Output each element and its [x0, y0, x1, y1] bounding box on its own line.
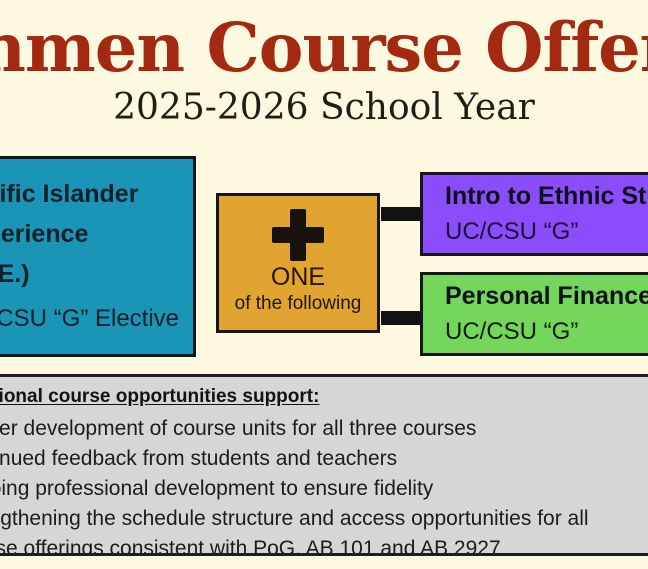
support-panel-line: Strengthening the schedule structure and…	[0, 504, 648, 534]
connector-qualifier-label: of the following	[235, 291, 362, 317]
required-course-name-line-3: (P.I.E.)	[0, 254, 30, 294]
page-title: Freshmen Course Offerings	[0, 8, 648, 88]
choice-1-credit: UC/CSU “G”	[445, 214, 578, 250]
arrow-to-choice-1-icon	[381, 207, 424, 221]
support-panel: Additional course opportunities support:…	[0, 374, 648, 556]
choice-box-intro-to-ethnic-studies[interactable]: Intro to Ethnic Studies UC/CSU “G”	[420, 172, 648, 256]
page-subtitle: 2025-2026 School Year	[0, 85, 648, 131]
choice-2-credit: UC/CSU “G”	[445, 314, 578, 350]
choice-2-name: Personal Finance	[445, 278, 648, 314]
required-course-box[interactable]: Pacific Islander Experience (P.I.E.) UC/…	[0, 156, 196, 357]
arrow-to-choice-2-icon	[381, 311, 424, 325]
required-course-name-line-1: Pacific Islander	[0, 174, 138, 214]
support-panel-line: Further development of course units for …	[0, 414, 648, 444]
support-panel-line: Course offerings consistent with PoG, AB…	[0, 534, 648, 556]
connector-count-label: ONE	[271, 263, 325, 291]
required-course-credit: UC/CSU “G” Elective	[0, 298, 179, 340]
one-of-the-following-box[interactable]: ONE of the following	[216, 193, 380, 333]
support-panel-line: Ongoing professional development to ensu…	[0, 474, 648, 504]
required-course-name-line-2: Experience	[0, 214, 88, 254]
choice-box-personal-finance[interactable]: Personal Finance UC/CSU “G”	[420, 272, 648, 356]
slide-canvas: Freshmen Course Offerings 2025-2026 Scho…	[0, 0, 648, 569]
plus-icon	[272, 209, 324, 261]
choice-1-name: Intro to Ethnic Studies	[445, 178, 648, 214]
support-panel-heading: Additional course opportunities support:	[0, 383, 648, 411]
support-panel-line: Continued feedback from students and tea…	[0, 444, 648, 474]
